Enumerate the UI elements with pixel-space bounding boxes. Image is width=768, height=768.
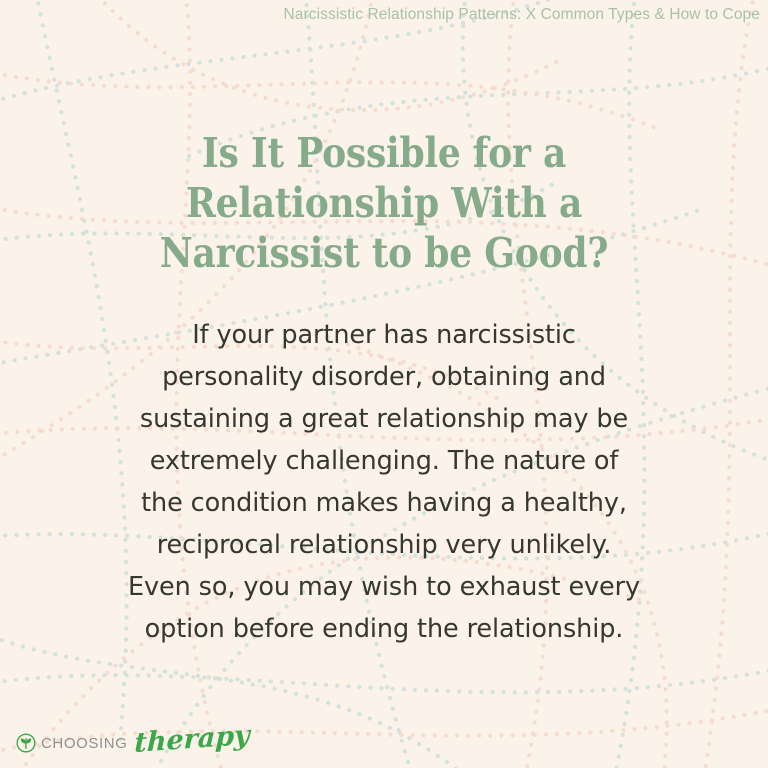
body-paragraph: If your partner has narcissistic persona…	[84, 278, 684, 650]
content-area: Is It Possible for a Relationship With a…	[0, 0, 768, 768]
logo-therapy-text: therapy	[134, 721, 250, 756]
logo-choosing-text: CHOOSING	[41, 736, 127, 751]
quote-card: Narcissistic Relationship Patterns: X Co…	[0, 0, 768, 768]
leaf-icon	[16, 733, 36, 753]
page-title: Is It Possible for a Relationship With a…	[102, 0, 665, 278]
choosing-therapy-logo[interactable]: CHOOSING therapy	[16, 730, 250, 756]
